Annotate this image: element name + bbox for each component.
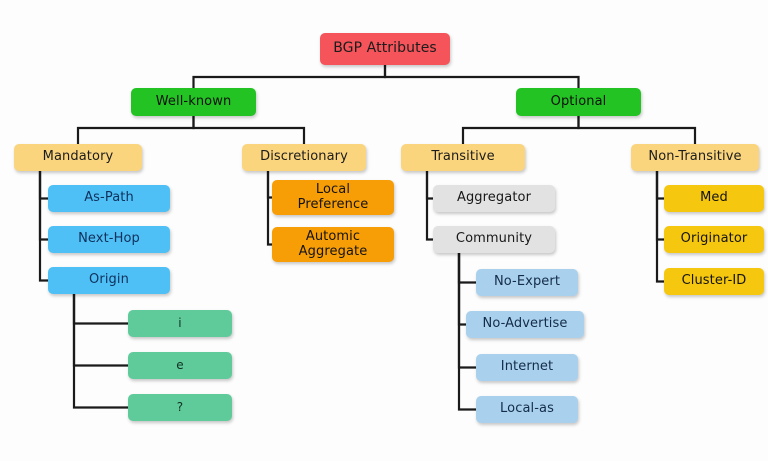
edge-origin-to-origin-q bbox=[74, 294, 128, 408]
node-internet: Internet bbox=[476, 354, 578, 381]
node-origin-q: ? bbox=[128, 394, 232, 421]
node-origin: Origin bbox=[48, 267, 170, 294]
edge-root-to-optional bbox=[385, 65, 579, 88]
edge-mandatory-to-origin bbox=[40, 171, 48, 281]
node-aggregator: Aggregator bbox=[433, 185, 555, 212]
node-discretionary: Discretionary bbox=[242, 144, 366, 171]
node-originator: Originator bbox=[664, 226, 764, 253]
node-med: Med bbox=[664, 185, 764, 212]
node-optional: Optional bbox=[516, 88, 641, 116]
edge-origin-to-origin-i bbox=[74, 294, 128, 324]
edge-mandatory-to-nexthop bbox=[40, 171, 48, 240]
node-localas: Local-as bbox=[476, 396, 578, 423]
node-origin-i: i bbox=[128, 310, 232, 337]
edge-optional-to-nontransitive bbox=[579, 116, 696, 144]
node-nexthop: Next-Hop bbox=[48, 226, 170, 253]
edge-optional-to-transitive bbox=[463, 116, 579, 144]
node-transitive: Transitive bbox=[401, 144, 525, 171]
edge-origin-to-origin-e bbox=[74, 294, 128, 366]
node-mandatory: Mandatory bbox=[14, 144, 142, 171]
node-localpref: Local Preference bbox=[272, 180, 394, 215]
edge-root-to-wellknown bbox=[194, 65, 386, 88]
node-atomicagg: Automic Aggregate bbox=[272, 227, 394, 262]
edge-nontransitive-to-originator bbox=[657, 171, 664, 240]
node-noexport: No-Expert bbox=[476, 269, 578, 296]
node-origin-e: e bbox=[128, 352, 232, 379]
diagram-canvas: BGP AttributesWell-knownOptionalMandator… bbox=[0, 0, 768, 461]
node-nontransitive: Non-Transitive bbox=[631, 144, 759, 171]
edge-mandatory-to-aspath bbox=[40, 171, 48, 199]
edge-nontransitive-to-clusterid bbox=[657, 171, 664, 282]
edge-nontransitive-to-med bbox=[657, 171, 664, 199]
edge-community-to-noexport bbox=[459, 253, 476, 283]
edge-wellknown-to-mandatory bbox=[78, 116, 194, 144]
node-aspath: As-Path bbox=[48, 185, 170, 212]
edge-wellknown-to-discretionary bbox=[194, 116, 305, 144]
edge-community-to-noadvertise bbox=[459, 253, 466, 325]
node-root: BGP Attributes bbox=[320, 33, 450, 65]
node-wellknown: Well-known bbox=[131, 88, 256, 116]
node-noadvertise: No-Advertise bbox=[466, 311, 584, 338]
node-community: Community bbox=[433, 226, 555, 253]
node-clusterid: Cluster-ID bbox=[664, 268, 764, 295]
